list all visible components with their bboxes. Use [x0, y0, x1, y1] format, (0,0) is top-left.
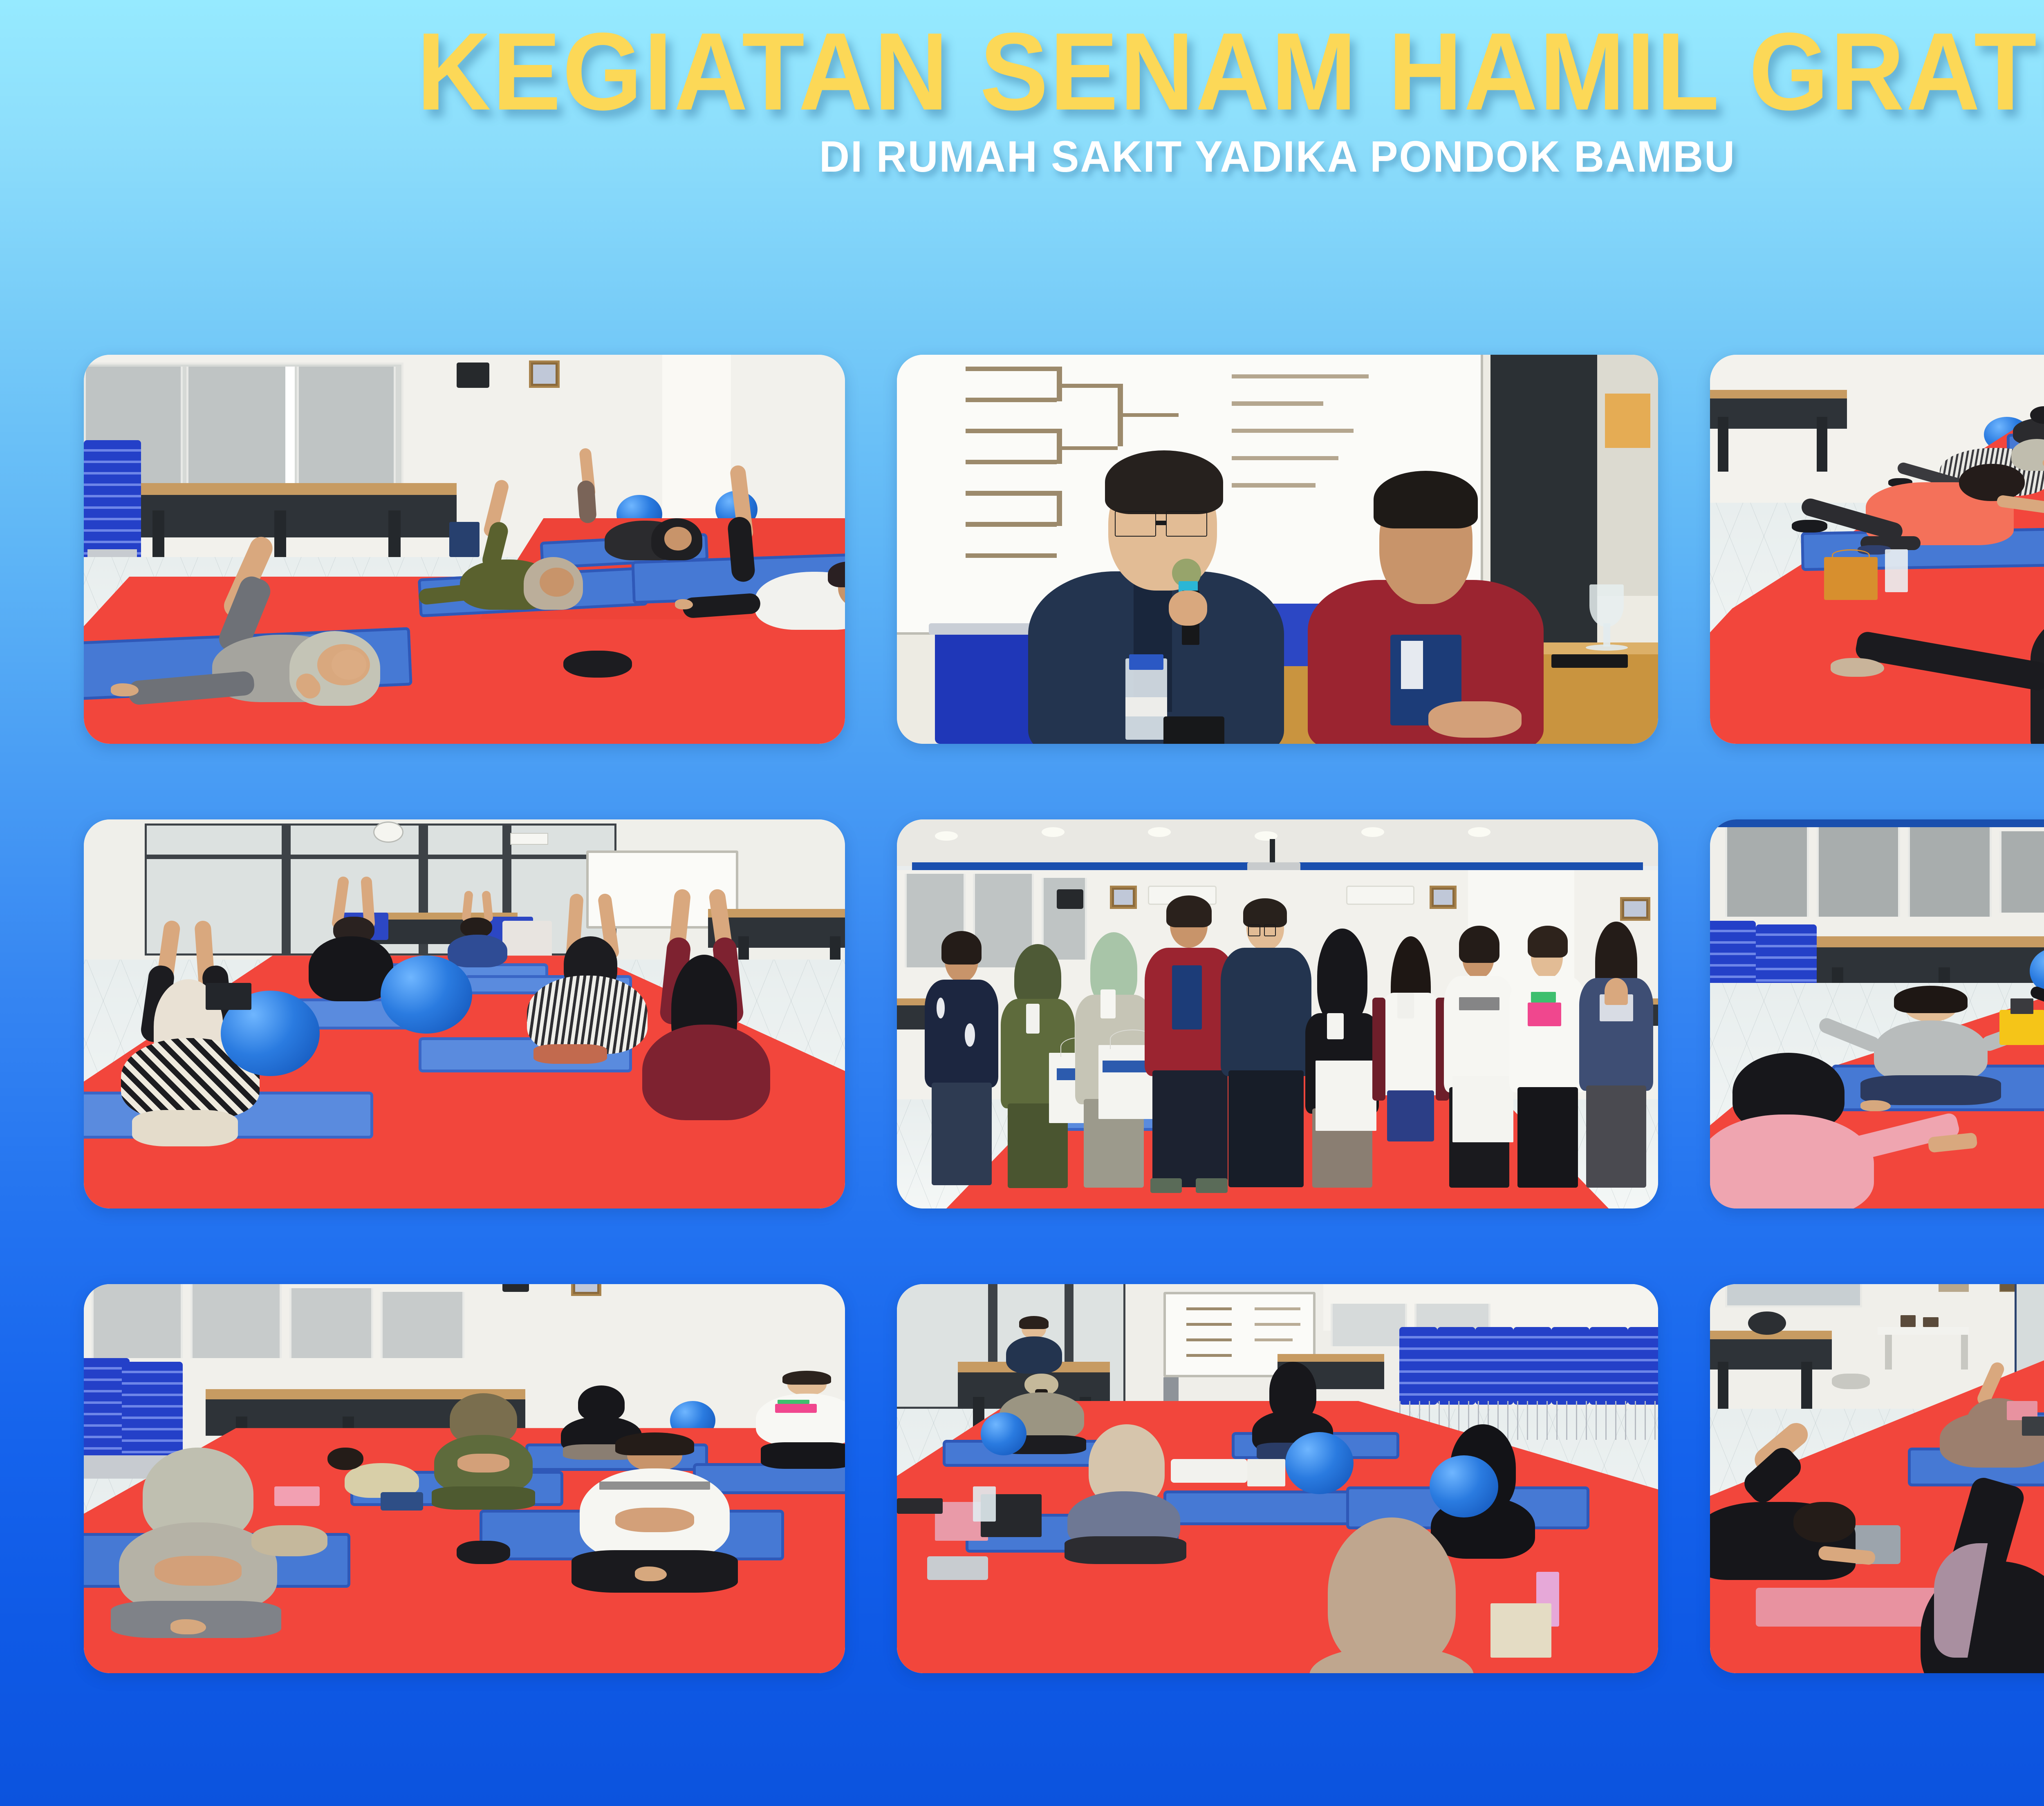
- photo-card-8[interactable]: [897, 1284, 1658, 1673]
- page-title: KEGIATAN SENAM HAMIL GRATIS: [90, 19, 2044, 125]
- photo-card-5[interactable]: [897, 819, 1658, 1208]
- photo-card-9[interactable]: [1710, 1284, 2044, 1673]
- photo-card-6[interactable]: [1710, 819, 2044, 1208]
- photo-grid: [84, 355, 2044, 1673]
- photo-5-scene: [897, 819, 1658, 1208]
- photo-card-2[interactable]: [897, 355, 1658, 744]
- poster-header: KEGIATAN SENAM HAMIL GRATIS DI RUMAH SAK…: [0, 0, 2044, 179]
- photo-card-7[interactable]: [84, 1284, 845, 1673]
- photo-6-scene: [1710, 819, 2044, 1208]
- photo-7-scene: [84, 1284, 845, 1673]
- photo-9-scene: [1710, 1284, 2044, 1673]
- photo-card-1[interactable]: [84, 355, 845, 744]
- photo-2-scene: [897, 355, 1658, 744]
- photo-card-4[interactable]: [84, 819, 845, 1208]
- photo-4-scene: [84, 819, 845, 1208]
- page-subtitle: DI RUMAH SAKIT YADIKA PONDOK BAMBU: [64, 134, 2044, 179]
- photo-1-scene: [84, 355, 845, 744]
- photo-card-3[interactable]: [1710, 355, 2044, 744]
- photo-8-scene: [897, 1284, 1658, 1673]
- photo-3-scene: [1710, 355, 2044, 744]
